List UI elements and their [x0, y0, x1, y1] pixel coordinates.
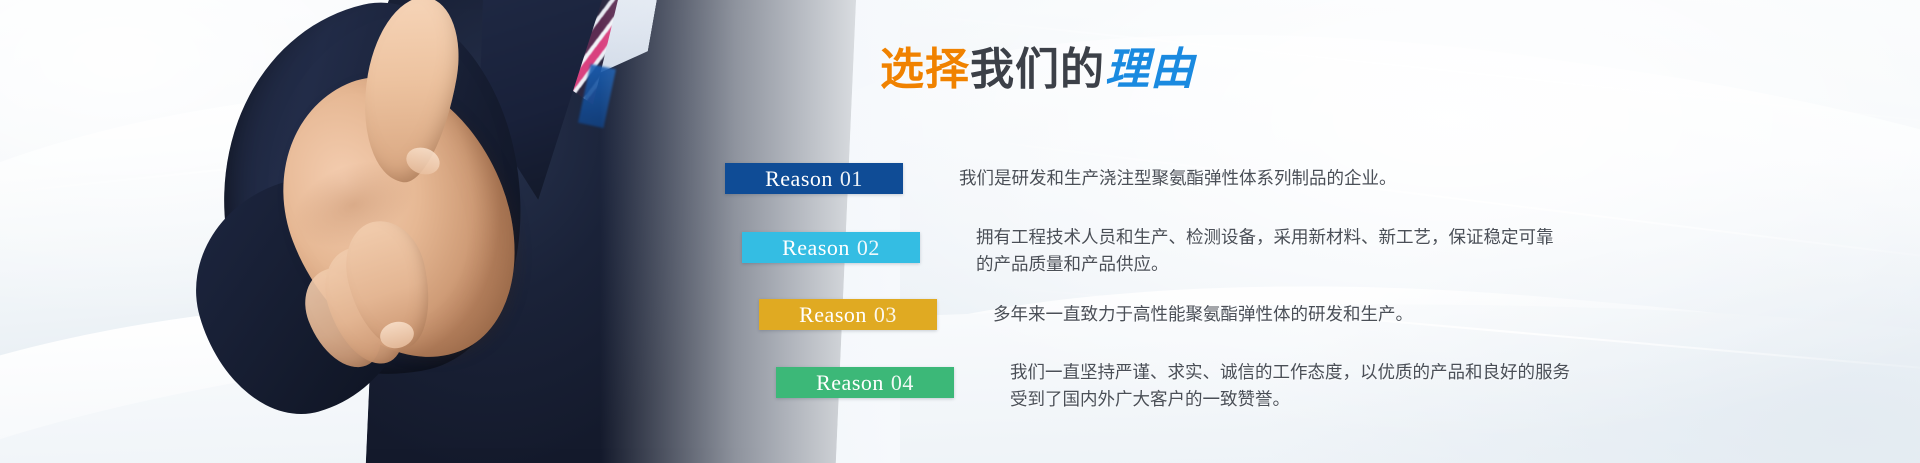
page-title-part-blue: 理由: [1105, 45, 1195, 94]
reason-description-03: 多年来一直致力于高性能聚氨酯弹性体的研发和生产。: [993, 301, 1413, 328]
reason-badge-number-01: 01: [840, 166, 863, 192]
reason-item-01: Reason 01 我们是研发和生产浇注型聚氨酯弹性体系列制品的企业。: [725, 163, 1397, 194]
reason-item-04: Reason 04 我们一直坚持严谨、求实、诚信的工作态度，以优质的产品和良好的…: [776, 367, 1570, 412]
reason-item-03: Reason 03 多年来一直致力于高性能聚氨酯弹性体的研发和生产。: [759, 299, 1413, 330]
page-title: 选择我们的理由: [880, 48, 1195, 92]
reason-item-02: Reason 02 拥有工程技术人员和生产、检测设备，采用新材料、新工艺，保证稳…: [742, 232, 1554, 277]
reason-badge-02[interactable]: Reason 02: [742, 232, 920, 263]
reason-description-01: 我们是研发和生产浇注型聚氨酯弹性体系列制品的企业。: [959, 165, 1397, 192]
reason-badge-number-02: 02: [857, 235, 880, 261]
reason-badge-label-03: Reason: [799, 302, 867, 328]
reason-badge-03[interactable]: Reason 03: [759, 299, 937, 330]
reason-badge-01[interactable]: Reason 01: [725, 163, 903, 194]
reason-badge-label-02: Reason: [782, 235, 850, 261]
page-title-part-orange: 选择: [880, 45, 970, 94]
reason-badge-04[interactable]: Reason 04: [776, 367, 954, 398]
reason-badge-number-04: 04: [891, 370, 914, 396]
reason-description-02: 拥有工程技术人员和生产、检测设备，采用新材料、新工艺，保证稳定可靠 的产品质量和…: [976, 224, 1554, 277]
reason-badge-number-03: 03: [874, 302, 897, 328]
page-title-part-dark: 我们的: [970, 45, 1105, 94]
reason-badge-label-04: Reason: [816, 370, 884, 396]
reason-badge-label-01: Reason: [765, 166, 833, 192]
why-choose-us-banner: 选择我们的理由 Reason 01 我们是研发和生产浇注型聚氨酯弹性体系列制品的…: [0, 0, 1920, 463]
banner-content: 选择我们的理由 Reason 01 我们是研发和生产浇注型聚氨酯弹性体系列制品的…: [0, 0, 1920, 463]
reason-description-04: 我们一直坚持严谨、求实、诚信的工作态度，以优质的产品和良好的服务 受到了国内外广…: [1010, 359, 1570, 412]
